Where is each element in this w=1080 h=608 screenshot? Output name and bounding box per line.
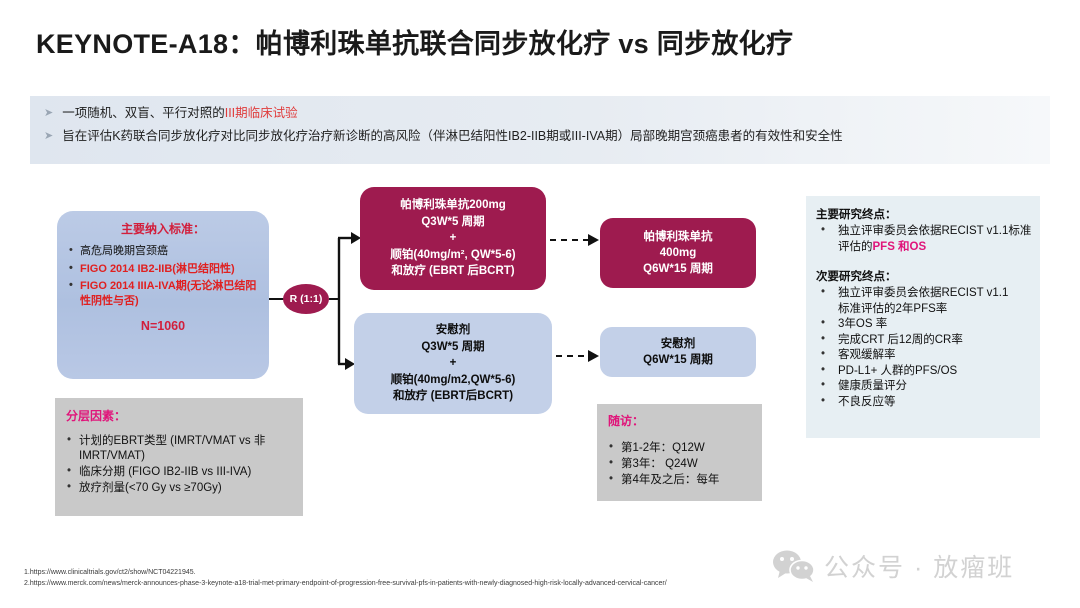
- list-item: PD-L1+ 人群的PFS/OS: [816, 364, 1032, 380]
- arm-line: 400mg: [660, 245, 696, 261]
- arm-line: Q3W*5 周期: [421, 339, 484, 356]
- list-item: 完成CRT 后12周的CR率: [816, 333, 1032, 349]
- wechat-watermark: 公众号 · 放瘤班: [772, 543, 1072, 589]
- placebo-maintenance-box: 安慰剂 Q6W*15 周期: [600, 327, 756, 377]
- list-item: 不良反应等: [816, 395, 1032, 411]
- list-item: 放疗剂量(<70 Gy vs ≥70Gy): [66, 481, 293, 496]
- stratification-box: 分层因素： 计划的EBRT类型 (IMRT/VMAT vs 非IMRT/VMAT…: [55, 398, 303, 516]
- arm-line: 和放疗 (EBRT 后BCRT): [391, 263, 514, 280]
- phase-3-highlight: III期临床试验: [225, 106, 298, 120]
- arm-line: Q3W*5 周期: [421, 214, 484, 231]
- wechat-icon: [772, 549, 816, 583]
- followup-list: 第1-2年：Q12W 第3年： Q24W 第4年及之后：每年: [608, 440, 754, 488]
- primary-endpoints-list: 独立评审委员会依据RECIST v1.1标准评估的PFS 和OS: [816, 224, 1032, 255]
- arm-line: Q6W*15 周期: [643, 261, 713, 277]
- list-item: 独立评审委员会依据RECIST v1.1: [816, 286, 1032, 302]
- endpoints-panel: 主要研究终点： 独立评审委员会依据RECIST v1.1标准评估的PFS 和OS…: [806, 196, 1040, 438]
- list-item: 第3年： Q24W: [608, 456, 754, 472]
- watermark-text: 公众号 · 放瘤班: [824, 548, 1014, 584]
- primary-endpoints-header: 主要研究终点：: [816, 206, 1032, 222]
- secondary-endpoints-header: 次要研究终点：: [816, 268, 1032, 284]
- intro-bullet-1: ➤ 一项随机、双盲、平行对照的III期临床试验: [30, 105, 1050, 122]
- pfs-os-highlight: PFS 和OS: [873, 241, 927, 253]
- list-item: 第4年及之后：每年: [608, 472, 754, 488]
- enrollment-count: N=1060: [67, 319, 259, 333]
- followup-box: 随访： 第1-2年：Q12W 第3年： Q24W 第4年及之后：每年: [597, 404, 762, 501]
- list-item: 临床分期 (FIGO IB2-IIB vs III-IVA): [66, 465, 293, 480]
- secondary-endpoints-list: 独立评审委员会依据RECIST v1.1: [816, 286, 1032, 302]
- list-item: FIGO 2014 IB2-IIB(淋巴结阳性): [67, 262, 259, 277]
- randomization-node: R (1:1): [283, 284, 329, 314]
- arm-line: Q6W*15 周期: [643, 352, 713, 368]
- list-item: 健康质量评分: [816, 379, 1032, 395]
- pembrolizumab-arm-box: 帕博利珠单抗200mg Q3W*5 周期 + 顺铂(40mg/m², QW*5-…: [360, 187, 546, 290]
- list-item: 第1-2年：Q12W: [608, 440, 754, 456]
- arm-line: +: [450, 355, 457, 372]
- inclusion-header: 主要纳入标准：: [67, 220, 259, 237]
- inclusion-list: 高危局晚期宫颈癌 FIGO 2014 IB2-IIB(淋巴结阳性) FIGO 2…: [67, 244, 259, 308]
- arm-line: 安慰剂: [436, 322, 471, 339]
- intro-bullet-2-text: 旨在评估K药联合同步放化疗对比同步放化疗治疗新诊断的高风险（伴淋巴结阳性IB2-…: [62, 128, 842, 145]
- page-title: KEYNOTE-A18：帕博利珠单抗联合同步放化疗 vs 同步放化疗: [36, 22, 793, 61]
- followup-header: 随访：: [608, 412, 754, 429]
- list-item: 计划的EBRT类型 (IMRT/VMAT vs 非IMRT/VMAT): [66, 434, 293, 464]
- stratification-header: 分层因素：: [66, 407, 293, 424]
- bullet-arrow-icon: ➤: [44, 129, 53, 144]
- intro-bullet-1-text: 一项随机、双盲、平行对照的III期临床试验: [62, 105, 297, 122]
- inclusion-criteria-box: 主要纳入标准： 高危局晚期宫颈癌 FIGO 2014 IB2-IIB(淋巴结阳性…: [57, 211, 269, 379]
- arm-line: 顺铂(40mg/m², QW*5-6): [390, 247, 515, 264]
- list-item: 客观缓解率: [816, 348, 1032, 364]
- list-item: 独立评审委员会依据RECIST v1.1标准评估的PFS 和OS: [816, 224, 1032, 255]
- arm-line: 和放疗 (EBRT后BCRT): [393, 388, 513, 405]
- arm-line: 顺铂(40mg/m2,QW*5-6): [391, 372, 516, 389]
- intro-bullet-2: ➤ 旨在评估K药联合同步放化疗对比同步放化疗治疗新诊断的高风险（伴淋巴结阳性IB…: [30, 128, 1050, 145]
- secondary-endpoints-rest: 3年OS 率 完成CRT 后12周的CR率 客观缓解率 PD-L1+ 人群的PF…: [816, 317, 1032, 410]
- pembrolizumab-maintenance-box: 帕博利珠单抗 400mg Q6W*15 周期: [600, 218, 756, 288]
- arm-line: +: [450, 230, 457, 247]
- list-item: FIGO 2014 IIIA-IVA期(无论淋巴结阳性阴性与否): [67, 279, 259, 308]
- bullet-arrow-icon: ➤: [44, 106, 53, 121]
- arm-line: 帕博利珠单抗: [644, 229, 713, 245]
- secondary-endpoint-subline: 标准评估的2年PFS率: [816, 302, 1032, 318]
- slide-root: KEYNOTE-A18：帕博利珠单抗联合同步放化疗 vs 同步放化疗 ➤ 一项随…: [0, 0, 1080, 608]
- list-item: 3年OS 率: [816, 317, 1032, 333]
- arm-line: 安慰剂: [661, 336, 696, 352]
- stratification-list: 计划的EBRT类型 (IMRT/VMAT vs 非IMRT/VMAT) 临床分期…: [66, 434, 293, 496]
- intro-band: ➤ 一项随机、双盲、平行对照的III期临床试验 ➤ 旨在评估K药联合同步放化疗对…: [30, 96, 1050, 164]
- arm-line: 帕博利珠单抗200mg: [400, 197, 505, 214]
- list-item: 高危局晚期宫颈癌: [67, 244, 259, 259]
- placebo-arm-box: 安慰剂 Q3W*5 周期 + 顺铂(40mg/m2,QW*5-6) 和放疗 (E…: [354, 313, 552, 414]
